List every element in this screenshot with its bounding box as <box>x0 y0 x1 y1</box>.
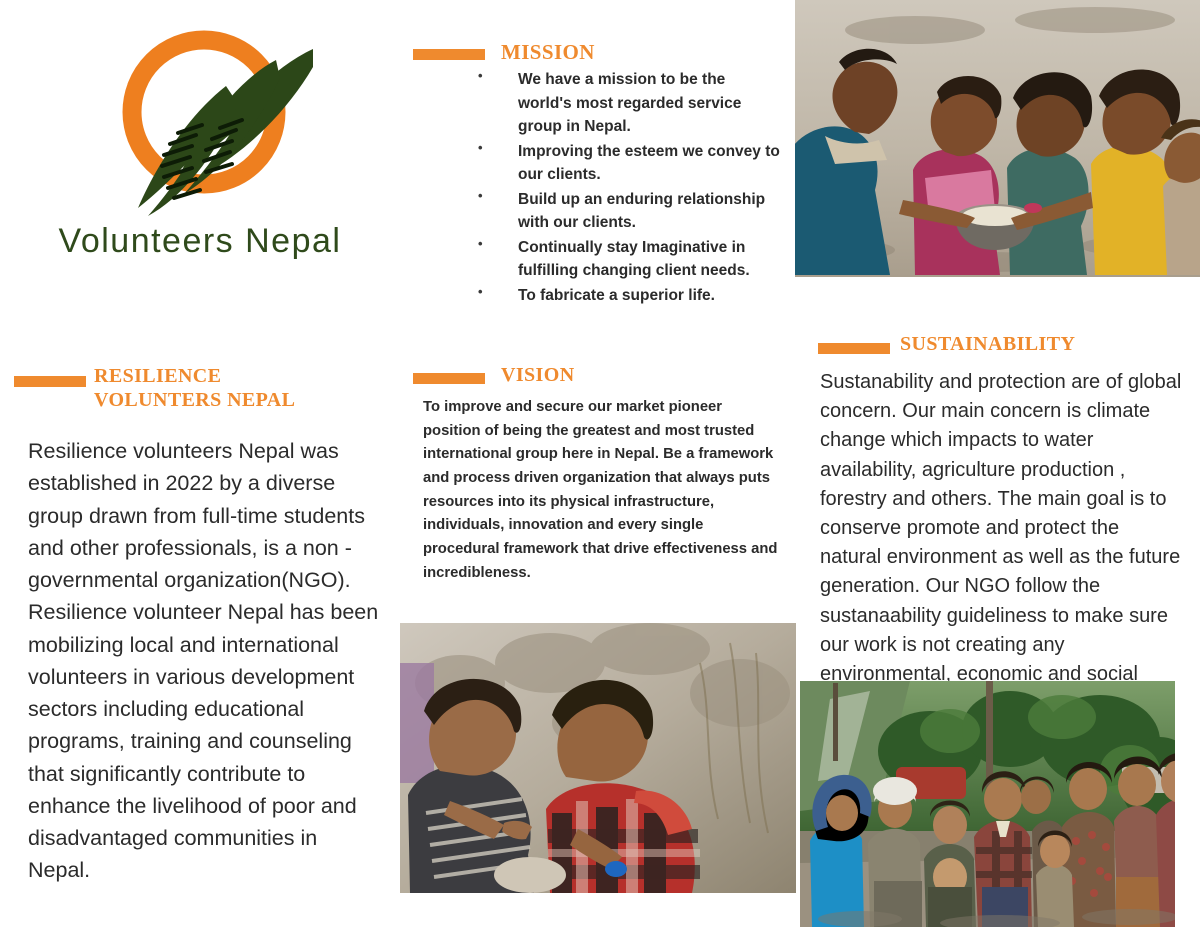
sustainability-section: SUSTAINABILITY Sustanability and protect… <box>818 338 1193 354</box>
circle-leaves-logo-icon <box>108 22 323 222</box>
photo-group-of-village-children <box>800 681 1175 927</box>
mission-heading: MISSION <box>501 40 595 65</box>
list-item: To fabricate a superior life. <box>478 284 783 308</box>
mission-section: MISSION We have a mission to be the worl… <box>413 44 788 60</box>
mission-bullet-list: We have a mission to be the world's most… <box>478 68 783 308</box>
vision-accent-rule <box>413 373 485 384</box>
photo-children-eating-from-bowl <box>795 0 1200 277</box>
list-item: Build up an enduring relationship with o… <box>478 188 783 235</box>
resilience-section: RESILIENCE VOLUNTERS NEPAL Resilience vo… <box>14 370 394 387</box>
vision-body-text: To improve and secure our market pioneer… <box>423 396 781 585</box>
vision-section: VISION To improve and secure our market … <box>413 368 788 384</box>
list-item: Improving the esteem we convey to our cl… <box>478 140 783 187</box>
list-item: Continually stay Imaginative in fulfilli… <box>478 236 783 283</box>
photo-two-girls-outdoors <box>400 623 796 893</box>
brand-wordmark: Volunteers Nepal <box>0 222 400 261</box>
brand-logo-block: Volunteers Nepal <box>0 0 400 300</box>
sustainability-accent-rule <box>818 343 890 354</box>
sustainability-heading: SUSTAINABILITY <box>900 333 1075 357</box>
sustainability-body-text: Sustanability and protection are of glob… <box>820 368 1182 689</box>
vision-heading: VISION <box>501 364 575 388</box>
resilience-body-text: Resilience volunteers Nepal was establis… <box>28 435 380 887</box>
resilience-accent-rule <box>14 376 86 387</box>
list-item: We have a mission to be the world's most… <box>478 68 783 139</box>
brochure-page: Volunteers Nepal MISSION We have a missi… <box>0 0 1200 927</box>
resilience-heading: RESILIENCE VOLUNTERS NEPAL <box>94 365 295 412</box>
mission-accent-rule <box>413 49 485 60</box>
